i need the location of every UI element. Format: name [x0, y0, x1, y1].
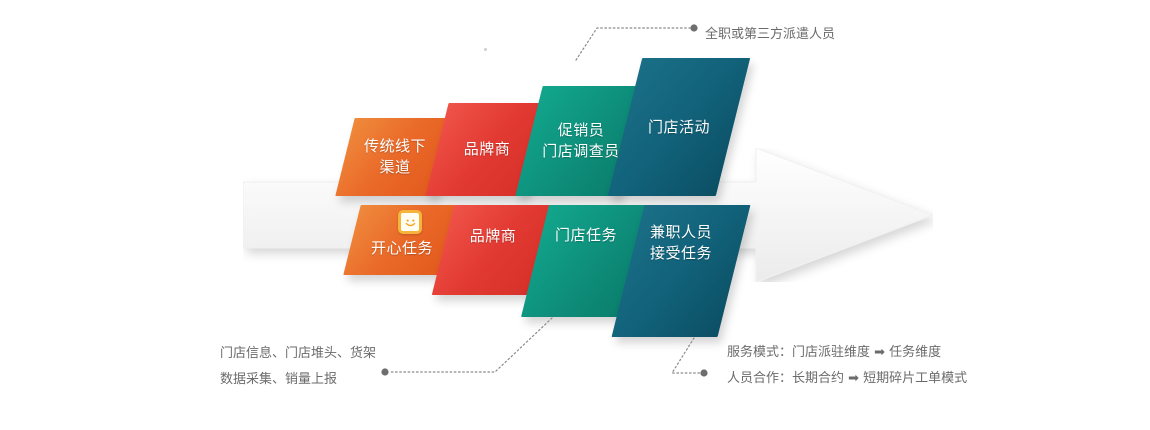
- smiley-face-glyph: [403, 215, 418, 230]
- chevron-label: 促销员 门店调查员: [536, 120, 626, 162]
- connector-top-right: [576, 28, 690, 60]
- chevron-label: 品牌商: [464, 226, 523, 247]
- connector-bottom-left: [390, 318, 552, 372]
- diagram-canvas: 传统线下 渠道 品牌商 促销员 门店调查员 门店活动 开心任务 品牌商 门店任务…: [0, 0, 1150, 430]
- chevron-label: 开心任务: [365, 238, 439, 259]
- connector-bottom-right: [672, 338, 700, 373]
- annotation-bottom-left: 门店信息、门店堆头、货架 数据采集、销量上报: [220, 341, 376, 393]
- smiley-face-icon: [398, 210, 422, 234]
- chevron-label: 传统线下 渠道: [358, 136, 432, 178]
- chevron-part-time-accept-task[interactable]: 兼职人员 接受任务: [628, 205, 734, 337]
- chevron-label: 门店任务: [549, 225, 623, 246]
- annotation-bottom-right: 服务模式：门店派驻维度 ➡ 任务维度 人员合作：长期合约 ➡ 短期碎片工单模式: [727, 340, 967, 392]
- chevron-label: 兼职人员 接受任务: [644, 222, 718, 264]
- chevron-label: 品牌商: [458, 139, 517, 160]
- chevron-brand-owner-bottom[interactable]: 品牌商: [443, 205, 543, 295]
- connector-dot-bottom-right: [700, 369, 707, 376]
- chevron-store-activity[interactable]: 门店活动: [625, 58, 733, 196]
- connector-dot-bottom-left: [381, 368, 388, 375]
- annotation-top-right: 全职或第三方派遣人员: [705, 22, 835, 48]
- connector-dot-top-right: [690, 24, 697, 31]
- decorative-speck: [484, 48, 487, 51]
- chevron-label: 门店活动: [642, 117, 716, 138]
